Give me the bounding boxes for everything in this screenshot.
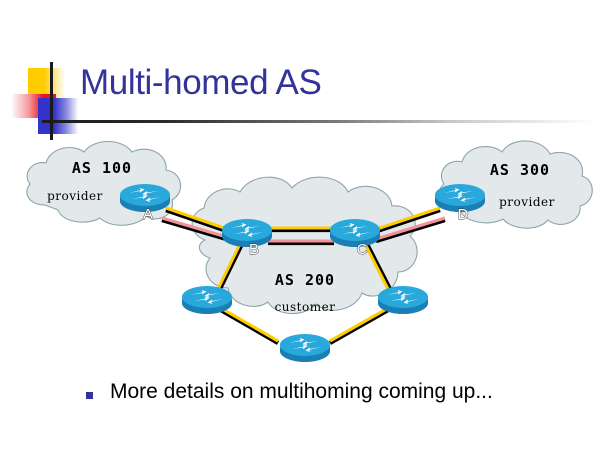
bullet-list-item: More details on multihoming coming up... (86, 380, 493, 404)
router-c-label: C (357, 241, 368, 258)
router-a-label: A (143, 206, 153, 223)
square-bullet-icon (86, 392, 93, 399)
cloud-as100-role: provider (47, 189, 103, 203)
cloud-as200-label: AS 200 (275, 271, 335, 289)
cloud-as100-label: AS 100 (72, 159, 132, 177)
slide-canvas: Multi-homed AS AS (0, 0, 600, 450)
page-title: Multi-homed AS (80, 63, 321, 103)
link-as200left-as200bottom (219, 307, 278, 343)
router-as200-left[interactable] (182, 286, 232, 314)
decoration-blue-square (38, 98, 78, 134)
link-as200bottom-as200right (330, 307, 390, 343)
title-underline-rule (42, 120, 598, 123)
cloud-as200-role: customer (275, 300, 336, 314)
cloud-as300-label: AS 300 (490, 161, 550, 179)
router-as200-right[interactable] (378, 286, 428, 314)
cloud-as300-role: provider (499, 195, 555, 209)
router-b-label: B (249, 241, 259, 258)
router-d-label: D (458, 206, 469, 223)
bullet-item-label: More details on multihoming coming up... (110, 380, 493, 404)
cloud-as100: AS 100 provider (27, 142, 181, 226)
decoration-vertical-rule (50, 62, 53, 140)
network-topology-diagram: AS 100 provider AS 300 provider AS 200 c… (0, 130, 600, 375)
router-as200-bottom[interactable] (280, 334, 330, 362)
